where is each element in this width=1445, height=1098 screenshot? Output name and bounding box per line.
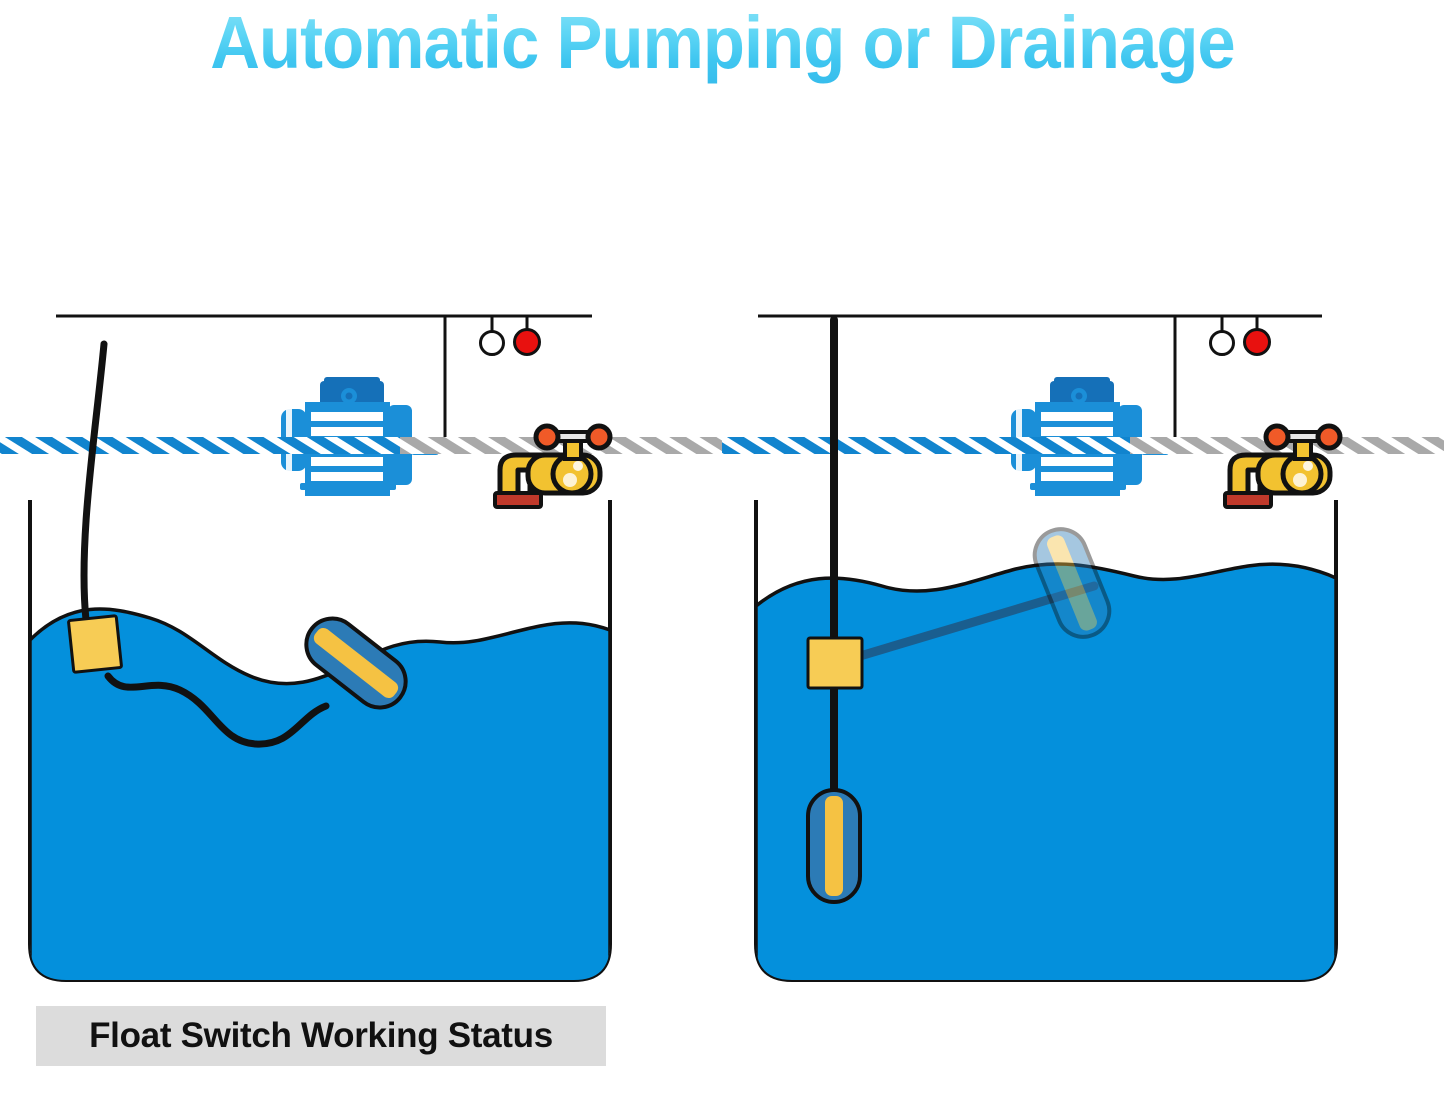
- electric-motor-pump: [267, 377, 439, 496]
- water-body: [756, 564, 1336, 985]
- electric-motor-pump: [997, 377, 1169, 496]
- indicator-lamp-on[interactable]: [515, 316, 540, 355]
- indicator-lamp-on[interactable]: [1245, 316, 1270, 355]
- caption-working-status-text: Float Switch Working Status: [89, 1016, 553, 1056]
- indicator-lamp-off[interactable]: [481, 316, 504, 355]
- ground-hatch-band: [0, 437, 722, 454]
- panel-float-switch-working-status: Float Switch Working Status: [0, 0, 722, 1098]
- diagram-transition-angle: [722, 0, 1444, 1098]
- indicator-lamp-off[interactable]: [1211, 316, 1234, 355]
- cable-counterweight: [808, 638, 862, 688]
- caption-working-status: Float Switch Working Status: [36, 1006, 606, 1066]
- diagram-working-status: [0, 0, 722, 1098]
- cable-counterweight: [68, 616, 121, 673]
- float-switch-cable-upper: [84, 344, 104, 620]
- float-switch-body: [808, 790, 860, 902]
- panel-float-switch-transition-angle: Float Switch Transition Angle: [722, 0, 1444, 1098]
